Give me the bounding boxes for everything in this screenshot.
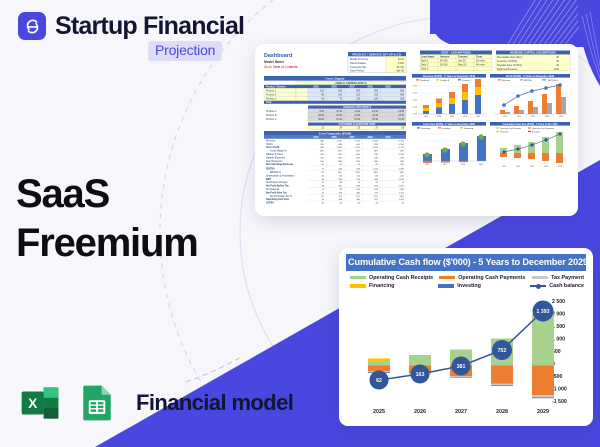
svg-text:2026: 2026 [437,116,441,118]
svg-text:10.90: 10.90 [336,111,342,113]
svg-text:60 mths: 60 mths [476,60,486,63]
svg-text:19.90: 19.90 [318,115,324,117]
svg-text:Profit ($'000) - 5 Years to De: Profit ($'000) - 5 Years to December 202… [506,75,555,78]
svg-text:Net Profit Before Tax: Net Profit Before Tax [266,185,289,188]
svg-text:Tax Expense: Tax Expense [266,189,280,191]
svg-text:30%: 30% [374,172,378,174]
svg-text:2026: 2026 [516,166,520,168]
svg-text:Operating Cash Receipts: Operating Cash Receipts [500,127,521,130]
svg-text:-230: -230 [356,161,361,163]
e-swirl-logo-icon [18,12,46,40]
legend-item-tax-payment: Tax Payment [532,275,584,281]
svg-text:-640: -640 [356,144,361,146]
cumulative-cash-flow-chart[interactable]: Cumulative Cash flow ($'000) - 5 Years t… [339,248,593,426]
svg-text:1 670: 1 670 [355,147,361,149]
x-tick: 2026 [414,409,426,415]
svg-text:Investing: Investing [442,127,451,130]
x-tick: 2029 [537,409,549,415]
svg-text:2 310: 2 310 [355,140,361,142]
svg-text:1 000: 1 000 [398,61,405,65]
svg-text:Model Name: Model Name [264,60,284,64]
svg-text:2027: 2027 [443,164,447,166]
legend-label: Investing [457,283,481,289]
svg-text:2025: 2025 [503,116,507,118]
svg-text:Non Operating Expenses: Non Operating Expenses [266,163,294,166]
bubble-label: 381 [457,364,466,370]
svg-text:25%: 25% [356,172,360,174]
x-tick: 2027 [455,409,467,415]
svg-text:-180: -180 [338,157,343,159]
svg-text:Start Period: Start Period [350,69,364,73]
svg-text:50 000: 50 000 [440,64,448,67]
svg-text:1 317: 1 317 [399,192,405,194]
legend-label: Cash balance [549,283,584,289]
svg-text:12.90: 12.90 [372,111,378,113]
svg-text:2025: 2025 [424,116,428,118]
svg-text:9.90: 9.90 [320,111,325,113]
svg-text:ANNUAL GROWTH RATE %: ANNUAL GROWTH RATE % [335,82,367,85]
svg-text:2028: 2028 [463,116,467,118]
legend-label: Operating Cash Payments [458,275,525,281]
svg-text:2025: 2025 [502,166,506,168]
svg-text:COGS: COGS [266,144,273,146]
svg-text:80 000: 80 000 [440,60,448,63]
page-title: SaaS Freemium [16,170,198,268]
svg-text:2029: 2029 [558,166,562,168]
svg-text:-470: -470 [400,157,405,159]
svg-text:2026: 2026 [517,116,521,118]
svg-text:Debt 3: Debt 3 [421,68,429,71]
svg-text:EBITDA %: EBITDA % [270,171,281,174]
svg-text:55.90: 55.90 [372,119,378,121]
legend-label: Tax Payment [551,275,584,281]
svg-text:Net Profit After Tax: Net Profit After Tax [266,191,287,194]
svg-text:1 667: 1 667 [399,186,405,188]
svg-text:-120: -120 [320,157,325,159]
legend-item-financing: Financing [350,283,438,289]
svg-text:Product B: Product B [440,79,450,82]
svg-text:7%: 7% [321,172,324,174]
svg-text:73%: 73% [374,151,378,153]
svg-text:74%: 74% [400,151,404,153]
svg-text:EBITDA: EBITDA [524,79,532,82]
svg-text:49.90: 49.90 [318,119,324,121]
svg-text:3 000: 3 000 [412,100,417,102]
bubble-label: 752 [498,348,507,354]
legend-item-investing: Investing [438,283,530,289]
svg-text:Total: Total [266,101,272,104]
svg-text:Dashboard: Dashboard [264,53,292,59]
svg-text:Net Profit After Tax %: Net Profit After Tax % [270,195,292,198]
svg-text:Denomination: Denomination [350,61,367,65]
svg-text:Deferred Revenue: Deferred Revenue [497,68,518,71]
legend-label: Financing [369,283,394,289]
svg-text:-130: -130 [400,164,405,166]
svg-text:Inventory (COGS): Inventory (COGS) [497,60,517,63]
legend-item-cash-balance: Cash balance [530,283,584,289]
legend-line-marker-icon [530,284,546,288]
svg-text:1 675: 1 675 [399,179,405,181]
svg-text:1 422: 1 422 [399,199,405,201]
svg-text:PRODUCT / SERVICE SET-UP & CO.: PRODUCT / SERVICE SET-UP & CO. [352,53,402,57]
svg-text:Go to Table of Contents: Go to Table of Contents [264,65,298,69]
svg-text:21.90: 21.90 [354,115,360,117]
svg-text:4 000: 4 000 [412,93,417,95]
svg-text:2%: 2% [321,196,324,198]
svg-text:$ US: $ US [398,57,404,61]
svg-text:May-26: May-26 [458,64,467,67]
legend-swatch-icon [350,276,366,280]
svg-text:Product 1: Product 1 [266,89,277,92]
svg-text:35%: 35% [400,172,404,174]
svg-text:2029: 2029 [385,137,391,139]
svg-text:Product B: Product B [266,114,277,117]
svg-text:-280: -280 [374,161,379,163]
svg-text:2027: 2027 [349,137,355,139]
svg-text:2 520: 2 520 [373,147,379,149]
svg-text:2028: 2028 [461,164,465,166]
format-badges: X Financial model [18,381,293,425]
svg-text:Jan-25: Jan-25 [396,69,404,73]
svg-text:EBIT: EBIT [266,179,272,181]
svg-text:57.90: 57.90 [398,119,404,121]
bubble-label: 163 [416,372,425,378]
svg-text:-930: -930 [374,144,379,146]
y-tick: 2 500 [552,299,565,305]
svg-text:Net Finance Charges: Net Finance Charges [266,181,289,184]
svg-text:X: X [28,396,38,411]
svg-text:Users Supply: Users Supply [325,77,345,81]
svg-text:2 000: 2 000 [412,107,417,109]
legend-swatch-icon [532,276,548,280]
legend-swatch-icon [439,276,455,280]
google-sheets-icon [75,381,119,425]
svg-text:17%: 17% [356,196,360,198]
y-tick: -1 000 [552,386,567,392]
svg-text:-790: -790 [374,154,379,156]
svg-text:2026: 2026 [331,137,337,139]
legend-swatch-icon [350,284,366,288]
microsoft-excel-icon: X [18,381,62,425]
svg-text:Product 3: Product 3 [266,98,277,101]
svg-text:Granted: Granted [458,56,468,59]
svg-text:-1 050: -1 050 [398,154,405,156]
headline-line-2: Freemium [16,219,198,268]
svg-text:1 780: 1 780 [399,169,405,171]
svg-text:Gross Profit: Gross Profit [266,146,280,149]
legend-label: Operating Cash Receipts [369,275,433,281]
svg-text:Depreciation & Amortisation: Depreciation & Amortisation [266,174,295,177]
svg-text:Product C: Product C [266,118,277,121]
svg-text:Operating Cash Flow: Operating Cash Flow [266,198,289,201]
svg-text:Core Financials ($'000): Core Financials ($'000) [319,131,352,135]
svg-text:26%: 26% [400,196,404,198]
svg-text:1 090: 1 090 [337,147,343,149]
svg-text:Product 2: Product 2 [266,94,277,97]
svg-text:Jan-25: Jan-25 [458,60,466,63]
svg-text:Financing: Financing [464,128,474,130]
brand-name: Startup Financial [55,14,244,39]
svg-text:Product A: Product A [420,79,430,82]
legend-item-operating-cash-receipts: Operating Cash Receipts [350,275,439,281]
bubble-label: 62 [376,378,382,384]
headline-line-1: SaaS [16,170,198,219]
legend-item-operating-cash-payments: Operating Cash Payments [439,275,532,281]
svg-text:WORKING CAPITAL ASSUMPTIONS: WORKING CAPITAL ASSUMPTIONS [510,51,556,55]
svg-text:-560: -560 [356,154,361,156]
legend-swatch-icon [438,284,454,288]
svg-text:23.90: 23.90 [398,115,404,117]
svg-text:13.90: 13.90 [398,111,404,113]
svg-text:2027: 2027 [450,116,454,118]
svg-text:-1 350: -1 350 [398,144,405,146]
svg-text:22.90: 22.90 [372,115,378,117]
svg-text:Product A: Product A [266,110,277,113]
x-tick: 2025 [373,409,385,415]
svg-text:Loan Name: Loan Name [421,56,435,59]
svg-text:2028: 2028 [544,166,548,168]
svg-text:2029: 2029 [476,116,480,118]
svg-text:2028: 2028 [545,116,549,118]
bar-group-2029 [532,314,554,398]
svg-text:DEBT - ASSUMPTIONS: DEBT - ASSUMPTIONS [441,51,471,55]
svg-text:5 000: 5 000 [412,86,417,88]
svg-text:72%: 72% [356,151,360,153]
svg-text:Debt 1: Debt 1 [421,60,429,63]
svg-text:-350: -350 [400,189,405,191]
svg-text:2027: 2027 [530,166,534,168]
svg-text:-420: -420 [338,154,343,156]
svg-text:Corporate Tax: Corporate Tax [350,65,367,69]
svg-text:-150: -150 [320,161,325,163]
svg-text:Term: Term [476,56,483,59]
svg-text:Variable Expenses: Variable Expenses [266,156,286,159]
svg-text:1 000: 1 000 [412,114,417,116]
svg-text:21.0%: 21.0% [397,65,405,69]
svg-text:-340: -340 [400,161,405,163]
svg-text:CAPEX: CAPEX [266,202,274,205]
svg-text:53.90: 53.90 [354,119,360,121]
svg-text:-290: -290 [320,144,325,146]
dashboard-screenshot[interactable]: Dashboard Model Name Go to Table of Cont… [255,44,578,216]
svg-text:Operating Cash Payments: Operating Cash Payments [532,127,554,130]
svg-text:-104: -104 [356,189,361,191]
svg-text:2028: 2028 [367,137,373,139]
svg-text:16%: 16% [338,172,342,174]
bubble-label: 1 393 [537,309,550,315]
svg-text:20.90: 20.90 [336,115,342,117]
svg-text:Salaries & Taxes: Salaries & Taxes [266,153,284,156]
chart-legend: Operating Cash Receipts Operating Cash P… [346,271,586,293]
svg-text:2025: 2025 [313,137,319,139]
svg-text:Revenue ($'000) - 5 Years to D: Revenue ($'000) - 5 Years to December 20… [423,75,476,78]
svg-text:1 520: 1 520 [337,140,343,142]
svg-text:-105: -105 [400,175,405,177]
svg-text:Operating: Operating [421,127,431,130]
svg-text:-240: -240 [356,157,361,159]
svg-text:-190: -190 [338,161,343,163]
svg-text:Model Currency: Model Currency [350,57,369,61]
svg-text:5 120: 5 120 [399,140,405,142]
brand-subtitle: Projection [148,41,222,61]
svg-text:Fixed Expenses: Fixed Expenses [266,161,283,163]
svg-text:-430: -430 [338,144,343,146]
svg-text:Financing: Financing [500,132,508,134]
svg-text:Cash Flow ($'000) - 5 Years to: Cash Flow ($'000) - 5 Years to December … [423,123,475,126]
chart-title: Cumulative Cash flow ($'000) - 5 Years t… [346,254,586,271]
svg-text:EBITDA %: EBITDA % [548,79,558,82]
svg-text:Investing: Investing [532,131,540,134]
svg-text:Revenue: Revenue [502,80,511,82]
svg-text:2029: 2029 [559,116,563,118]
svg-text:-310: -310 [320,154,325,156]
svg-text:2026: 2026 [425,164,429,166]
brand-header: Startup Financial [18,12,244,40]
svg-text:3 770: 3 770 [399,147,405,149]
svg-text:Revenue: Revenue [266,140,276,142]
chart-plot-area: 2 500 2 000 1 500 1 000 500 0 -500 -1 00… [346,294,586,416]
svg-text:Receivable days (Rev): Receivable days (Rev) [497,56,522,59]
svg-text:3 450: 3 450 [373,140,379,142]
svg-text:-196: -196 [374,189,379,191]
svg-text:48 mths: 48 mths [476,64,486,67]
svg-text:Amount: Amount [440,56,450,59]
svg-text:Payable days (COGS): Payable days (COGS) [497,64,522,67]
svg-text:9%: 9% [339,196,342,198]
svg-text:-330: -330 [374,157,379,159]
svg-text:2027: 2027 [531,116,535,118]
svg-text:21%: 21% [374,196,378,198]
svg-text:EBITDA: EBITDA [266,168,275,171]
svg-text:Gross Margin %: Gross Margin % [270,150,286,153]
svg-text:11.90: 11.90 [354,111,360,113]
footer-label: Financial model [136,390,293,416]
svg-text:70%: 70% [320,151,324,153]
svg-text:Cumulative Cash flow ($'000) -: Cumulative Cash flow ($'000) - 5 Years t… [502,123,558,126]
svg-text:1 025: 1 025 [373,169,379,171]
svg-text:Product C: Product C [462,79,472,82]
svg-text:12%: 12% [554,68,560,71]
svg-text:2029: 2029 [479,164,483,166]
svg-text:72%: 72% [338,151,342,153]
svg-text:51.90: 51.90 [336,119,342,121]
svg-text:Debt 2: Debt 2 [421,64,429,67]
x-tick: 2028 [496,409,508,415]
y-tick: -1 500 [552,399,567,405]
